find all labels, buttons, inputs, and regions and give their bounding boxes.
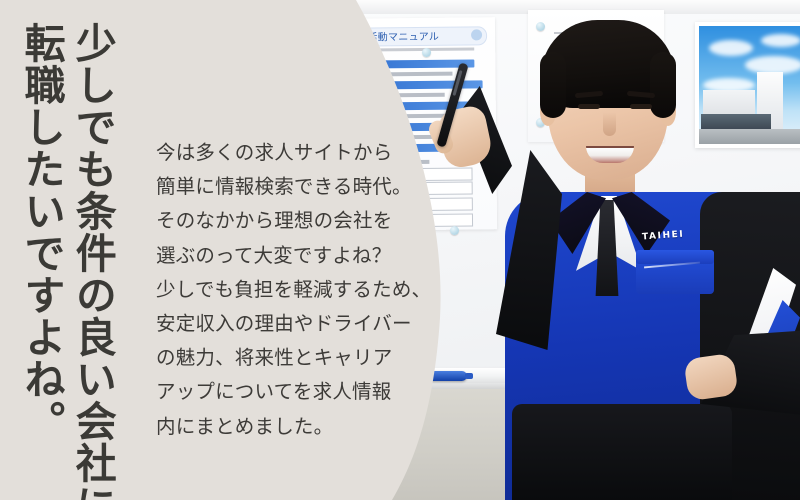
body-line: 簡単に情報検索できる時代。 (156, 170, 424, 204)
headline-column-2: 転職したいですよね。 (18, 22, 63, 442)
body-line: 選ぶのって大変ですよね？ (156, 239, 424, 273)
hair-side-left (540, 52, 566, 118)
body-line: アップについてを求人情報 (156, 375, 424, 409)
body-paragraph: 今は多くの求人サイトから 簡単に情報検索できる時代。 そのなかから理想の会社を … (156, 136, 424, 444)
body-line: そのなかから理想の会社を (156, 204, 424, 238)
hair-side-right (650, 52, 676, 118)
jacket-pocket-flap (636, 250, 714, 264)
eye-right (630, 104, 652, 109)
headline-column-1: 少しでも条件の良い会社に (69, 22, 114, 500)
headline: 少しでも条件の良い会社に 転職したいですよね。 (18, 22, 114, 482)
body-line: 少しでも負担を軽減するため、 (156, 273, 424, 307)
body-line: 今は多くの求人サイトから (156, 136, 424, 170)
body-line: 安定収入の理由やドライバー (156, 307, 424, 341)
body-line: の魅力、将来性とキャリア (156, 341, 424, 375)
eye-left (578, 104, 600, 109)
job-recruitment-banner: ち活動マニュアル (0, 0, 800, 500)
nose (603, 112, 616, 136)
trousers (512, 404, 732, 500)
body-line: 内にまとめました。 (156, 410, 424, 444)
